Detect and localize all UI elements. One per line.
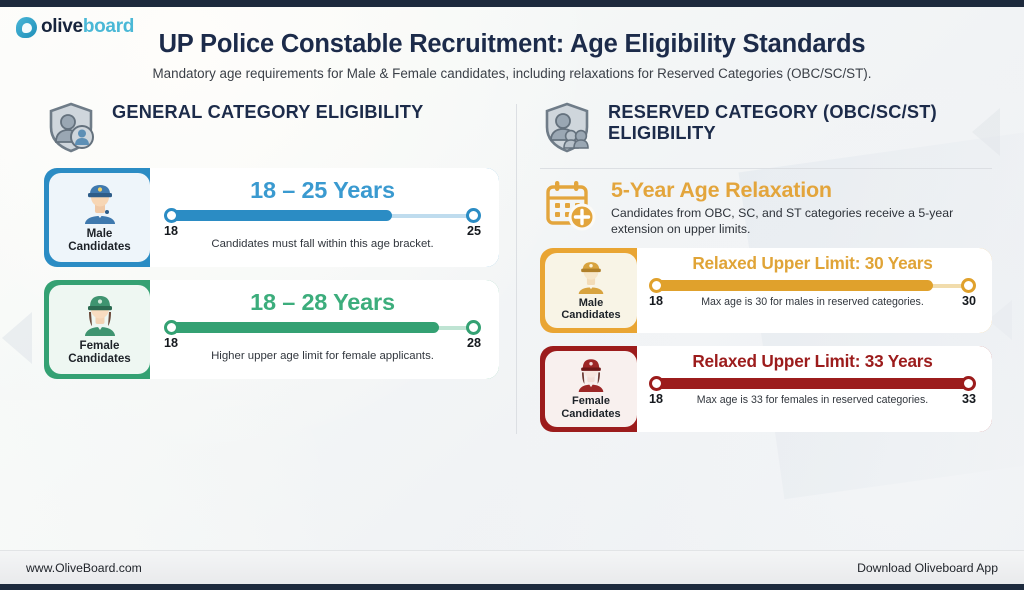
badge-label-female: FemaleCandidates [561, 395, 620, 421]
age-range-slider-general-female[interactable] [164, 320, 481, 336]
calendar-plus-icon [544, 179, 598, 233]
age-range-slider-reserved-female[interactable] [649, 376, 976, 392]
slider-knob-min[interactable] [164, 320, 179, 335]
page-subtitle: Mandatory age requirements for Male & Fe… [0, 66, 1024, 81]
slider-fill [655, 378, 970, 389]
slider-fill [170, 210, 392, 221]
general-category-column: GENERAL CATEGORY ELIGIBILITY MaleCandida… [44, 100, 499, 392]
badge-male-candidates: MaleCandidates [545, 253, 637, 329]
police-officer-male-icon [573, 258, 609, 294]
badge-label-female: FemaleCandidates [68, 339, 131, 366]
slider-footer-reserved-female: 18 Max age is 33 for females in reserved… [649, 392, 976, 409]
police-officer-male-icon [78, 180, 122, 224]
reserved-category-column: RESERVED CATEGORY (OBC/SC/ST) ELIGIBILIT… [540, 100, 992, 445]
footer-website[interactable]: www.OliveBoard.com [26, 561, 142, 575]
note-general-male: Candidates must fall within this age bra… [164, 238, 481, 250]
age-range-slider-reserved-male[interactable] [649, 278, 976, 294]
card-body-reserved-male: Relaxed Upper Limit: 30 Years 18 Max age… [637, 248, 992, 334]
police-officer-female-icon [78, 292, 122, 336]
top-accent-strip [0, 0, 1024, 7]
reserved-category-heading: RESERVED CATEGORY (OBC/SC/ST) ELIGIBILIT… [540, 100, 992, 154]
reserved-category-title: RESERVED CATEGORY (OBC/SC/ST) ELIGIBILIT… [608, 100, 992, 145]
general-category-title: GENERAL CATEGORY ELIGIBILITY [112, 100, 424, 123]
slider-max-value: 28 [467, 336, 481, 350]
page-title: UP Police Constable Recruitment: Age Eli… [0, 30, 1024, 59]
badge-label-male: MaleCandidates [561, 297, 620, 323]
footer-app-cta[interactable]: Download Oliveboard App [857, 561, 998, 575]
slider-end-values-general-female: 18 28 [164, 336, 481, 351]
slider-fill [655, 280, 933, 291]
slider-max-value: 25 [467, 224, 481, 238]
relaxation-title: 5-Year Age Relaxation [611, 179, 988, 203]
slider-end-values-general-male: 18 25 [164, 224, 481, 239]
note-general-female: Higher upper age limit for female applic… [164, 350, 481, 362]
decorative-triangle-left-icon [2, 312, 32, 364]
badge-label-male: MaleCandidates [68, 227, 131, 254]
card-body-reserved-female: Relaxed Upper Limit: 33 Years 18 Max age… [637, 346, 992, 432]
range-title-general-female: 18 – 28 Years [164, 289, 481, 316]
slider-min-value: 18 [164, 336, 178, 350]
card-body-general-female: 18 – 28 Years 18 28 Higher upper age lim… [150, 280, 499, 379]
range-title-general-male: 18 – 25 Years [164, 177, 481, 204]
range-title-reserved-female: Relaxed Upper Limit: 33 Years [649, 351, 976, 372]
card-body-general-male: 18 – 25 Years 18 25 Candidates must fall… [150, 168, 499, 267]
slider-min-value: 18 [649, 392, 663, 406]
bottom-accent-strip [0, 584, 1024, 590]
relaxation-description: Candidates from OBC, SC, and ST categori… [611, 206, 988, 238]
police-officer-female-icon [573, 356, 609, 392]
note-reserved-female: Max age is 33 for females in reserved ca… [697, 394, 928, 406]
age-relaxation-banner: 5-Year Age Relaxation Candidates from OB… [540, 179, 992, 248]
slider-fill [170, 322, 439, 333]
card-reserved-male[interactable]: MaleCandidates Relaxed Upper Limit: 30 Y… [540, 248, 992, 334]
slider-knob-max[interactable] [961, 278, 976, 293]
card-general-male[interactable]: MaleCandidates 18 – 25 Years 18 25 Candi… [44, 168, 499, 267]
slider-min-value: 18 [164, 224, 178, 238]
range-title-reserved-male: Relaxed Upper Limit: 30 Years [649, 253, 976, 274]
card-general-female[interactable]: FemaleCandidates 18 – 28 Years 18 28 Hig… [44, 280, 499, 379]
slider-footer-reserved-male: 18 Max age is 30 for males in reserved c… [649, 294, 976, 311]
general-category-heading: GENERAL CATEGORY ELIGIBILITY [44, 100, 499, 154]
infographic-poster: oliveboard UP Police Constable Recruitme… [0, 0, 1024, 590]
slider-max-value: 30 [962, 294, 976, 308]
column-divider [516, 104, 517, 434]
badge-female-candidates: FemaleCandidates [545, 351, 637, 427]
slider-knob-max[interactable] [466, 320, 481, 335]
badge-male-candidates: MaleCandidates [49, 173, 150, 262]
card-reserved-female[interactable]: FemaleCandidates Relaxed Upper Limit: 33… [540, 346, 992, 432]
age-range-slider-general-male[interactable] [164, 208, 481, 224]
slider-knob-min[interactable] [164, 208, 179, 223]
note-reserved-male: Max age is 30 for males in reserved cate… [701, 296, 924, 308]
slider-knob-max[interactable] [466, 208, 481, 223]
slider-min-value: 18 [649, 294, 663, 308]
relaxation-divider [540, 168, 992, 169]
slider-knob-min[interactable] [649, 278, 664, 293]
shield-people-icon [44, 100, 98, 154]
relaxation-text-block: 5-Year Age Relaxation Candidates from OB… [611, 179, 988, 238]
footer-bar: www.OliveBoard.com Download Oliveboard A… [0, 550, 1024, 584]
badge-female-candidates: FemaleCandidates [49, 285, 150, 374]
slider-max-value: 33 [962, 392, 976, 406]
slider-knob-max[interactable] [961, 376, 976, 391]
shield-people-icon [540, 100, 594, 154]
